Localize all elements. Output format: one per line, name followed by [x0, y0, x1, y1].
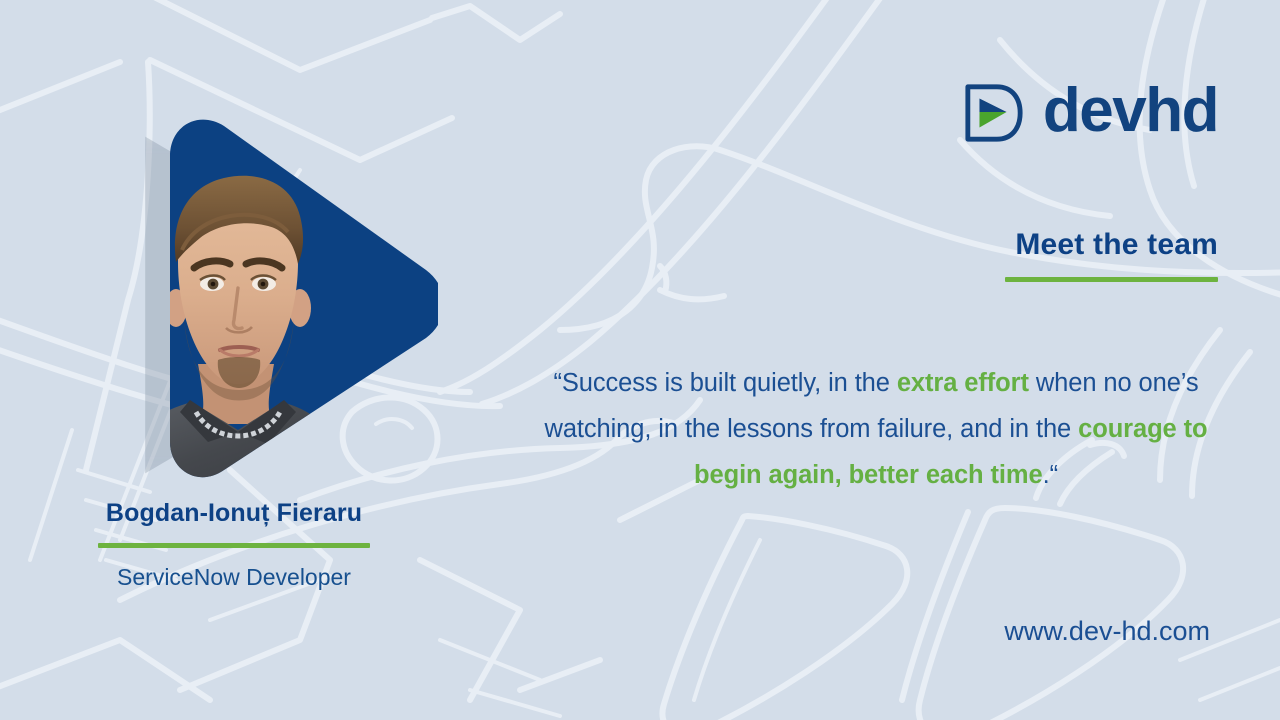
quote-close-mark: “ [1050, 461, 1058, 489]
slide-canvas: Bogdan-Ionuț Fieraru ServiceNow Develope… [0, 0, 1280, 720]
quote-open-mark: “ [553, 369, 561, 397]
quote-text: “Success is built quietly, in the extra … [540, 360, 1212, 498]
portrait-svg [78, 112, 438, 482]
quote-highlight-1: extra effort [897, 369, 1029, 397]
triangle-frame [78, 112, 438, 482]
name-underline-accent [98, 543, 370, 548]
section-underline-accent [1005, 277, 1218, 282]
person-info: Bogdan-Ionuț Fieraru ServiceNow Develope… [0, 500, 468, 590]
person-role: ServiceNow Developer [0, 565, 468, 590]
devhd-logo[interactable]: devhd [963, 82, 1218, 144]
portrait-triangle [78, 112, 448, 494]
devhd-chevron-logo-icon [963, 82, 1025, 144]
devhd-wordmark: devhd [1043, 80, 1218, 142]
quote-part-1: Success is built quietly, in the [562, 369, 897, 397]
section-heading: Meet the team [1005, 228, 1218, 282]
person-name: Bogdan-Ionuț Fieraru [0, 500, 468, 528]
quote-part-3: . [1043, 461, 1050, 489]
website-url[interactable]: www.dev-hd.com [1004, 617, 1210, 647]
section-title: Meet the team [1005, 228, 1218, 261]
